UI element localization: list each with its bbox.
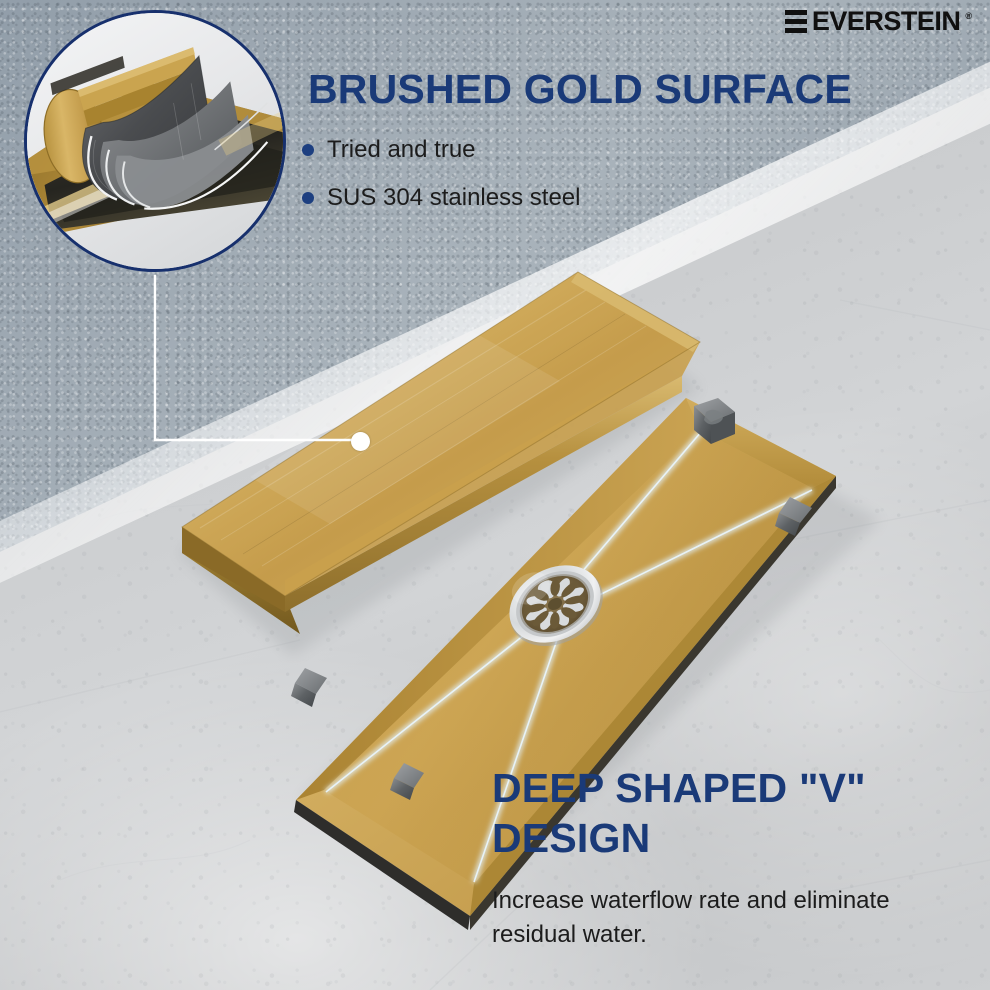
- bullet-dot-icon: [302, 144, 314, 156]
- feature-heading-bottom-line2: DESIGN: [492, 813, 866, 863]
- brand-logo: EVERSTEIN ®: [785, 8, 972, 35]
- feature-bullet-list: Tried and true SUS 304 stainless steel: [302, 136, 732, 232]
- list-item: SUS 304 stainless steel: [302, 184, 732, 213]
- brand-name: EVERSTEIN: [812, 8, 961, 35]
- feature-heading-bottom-line1: DEEP SHAPED "V": [492, 763, 866, 813]
- triple-bar-e-icon: [785, 10, 807, 33]
- registered-trademark-icon: ®: [965, 11, 972, 21]
- feature-heading-top: BRUSHED GOLD SURFACE: [308, 68, 852, 111]
- feature-heading-bottom: DEEP SHAPED "V" DESIGN: [492, 763, 866, 863]
- bullet-label: SUS 304 stainless steel: [327, 184, 580, 213]
- callout-circle-brushed-gold-cross-section: [24, 10, 286, 272]
- product-feature-image: EVERSTEIN ® BRUSHED GOLD SURFACE Tried a…: [0, 0, 990, 990]
- list-item: Tried and true: [302, 136, 732, 165]
- feature-body-bottom: Increase waterflow rate and eliminate re…: [492, 884, 972, 952]
- bullet-label: Tried and true: [327, 136, 476, 165]
- callout-anchor-dot: [351, 432, 370, 451]
- brushed-gold-layer-cross-section: [27, 13, 283, 269]
- bullet-dot-icon: [302, 192, 314, 204]
